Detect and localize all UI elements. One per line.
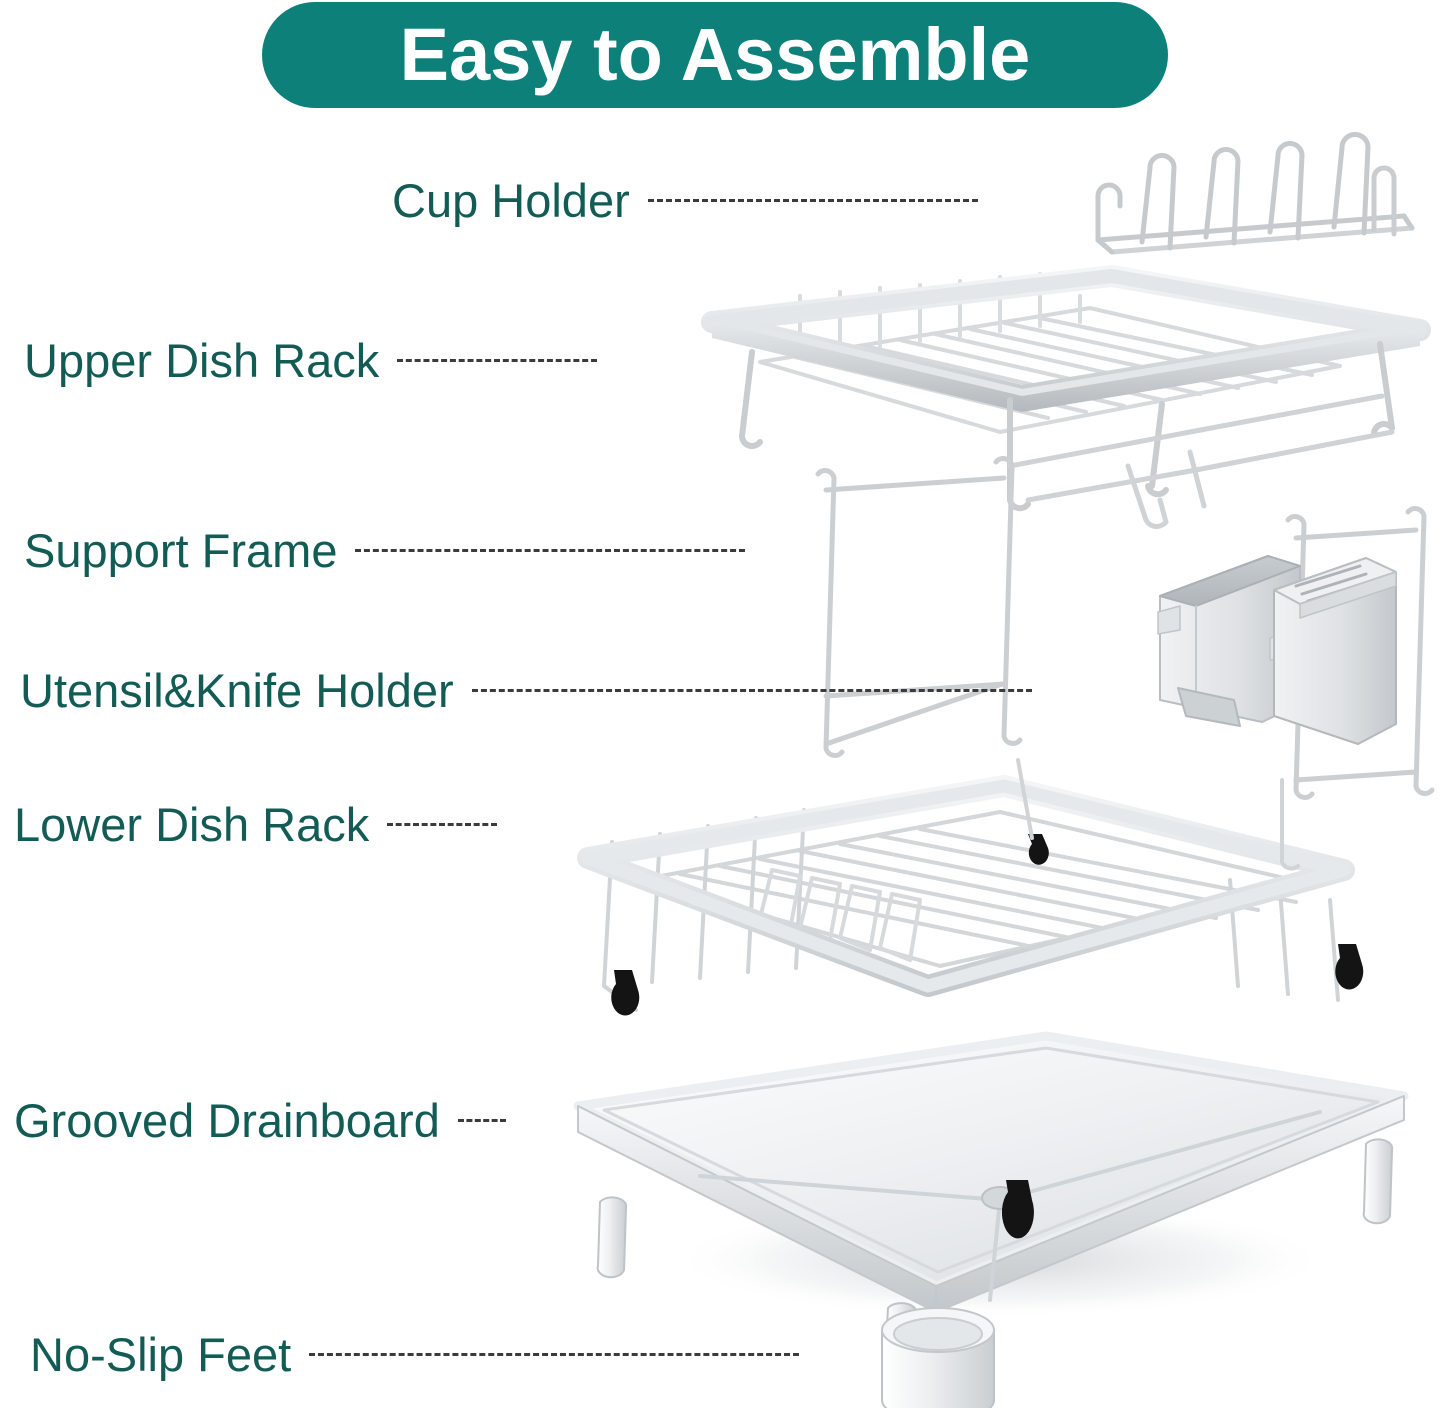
callout-label-grooved-drainboard: Grooved Drainboard (14, 1097, 440, 1144)
callout-label-upper-dish-rack: Upper Dish Rack (24, 337, 379, 384)
callout-label-no-slip-feet: No-Slip Feet (30, 1331, 291, 1378)
leader-line-utensil-knife-holder (472, 689, 1032, 692)
leader-line-upper-dish-rack (397, 359, 597, 362)
no-slip-foot-graphic (882, 1308, 994, 1408)
leader-line-no-slip-feet (309, 1353, 799, 1356)
callout-no-slip-feet: No-Slip Feet (30, 1322, 799, 1386)
upper-rack-hook-arms (1128, 452, 1204, 526)
leader-line-grooved-drainboard (458, 1119, 506, 1122)
callout-label-lower-dish-rack: Lower Dish Rack (14, 801, 369, 848)
callout-lower-dish-rack: Lower Dish Rack (14, 792, 497, 856)
leader-line-support-frame (355, 549, 745, 552)
grooved-drainboard-graphic (578, 1036, 1404, 1353)
support-frame-right-graphic (1288, 508, 1432, 797)
header-banner: Easy to Assemble (262, 2, 1168, 108)
lower-dish-rack-graphic (588, 760, 1363, 1015)
callout-label-support-frame: Support Frame (24, 527, 337, 574)
leader-line-lower-dish-rack (387, 823, 497, 826)
leader-line-cup-holder (648, 199, 978, 202)
callout-cup-holder: Cup Holder (392, 168, 978, 232)
utensil-knife-holder-graphic (1158, 556, 1396, 744)
callout-support-frame: Support Frame (24, 518, 745, 582)
page-title: Easy to Assemble (400, 18, 1031, 92)
callout-upper-dish-rack: Upper Dish Rack (24, 328, 597, 392)
callout-label-cup-holder: Cup Holder (392, 177, 630, 224)
cup-holder-graphic (1098, 135, 1412, 252)
callout-utensil-knife-holder: Utensil&Knife Holder (20, 658, 1032, 722)
upper-dish-rack-graphic (712, 274, 1420, 508)
product-assembly-infographic: Easy to Assemble (0, 0, 1445, 1408)
callout-grooved-drainboard: Grooved Drainboard (14, 1088, 506, 1152)
callout-label-utensil-knife-holder: Utensil&Knife Holder (20, 667, 454, 714)
